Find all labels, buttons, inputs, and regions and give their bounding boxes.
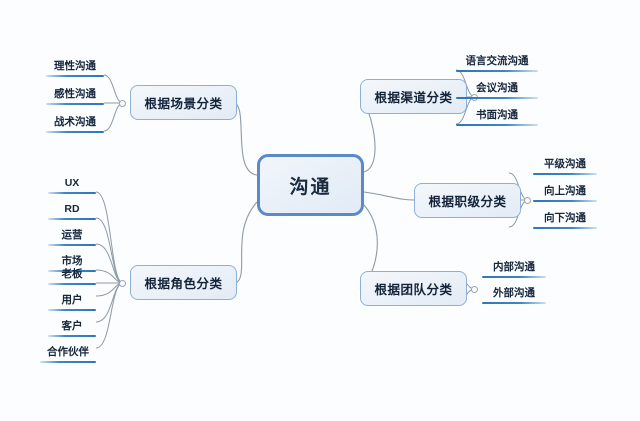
leaf-scene-1[interactable]: 感性沟通 [46,87,104,109]
leaf-role-0-label: UX [48,176,96,190]
leaf-team-1-label: 外部沟通 [482,286,546,300]
connector-dot-role [119,280,126,287]
branch-node-team[interactable]: 根据团队分类 [360,271,467,306]
leaf-role-3-label: 市场 [48,254,96,268]
leaf-channel-1-label: 会议沟通 [456,81,538,95]
connector-dot-scene [119,100,126,107]
branch-node-team-label: 根据团队分类 [374,279,452,298]
leaf-scene-2[interactable]: 战术沟通 [46,115,104,137]
leaf-underline [456,70,538,72]
branch-node-channel[interactable]: 根据渠道分类 [360,79,467,114]
leaf-underline [48,192,96,194]
leaf-role-1[interactable]: RD [48,202,96,224]
connector-dot-team [471,286,478,293]
leaf-underline [456,97,538,99]
leaf-role-7-label: 合作伙伴 [40,345,96,359]
leaf-underline [46,75,104,77]
leaf-scene-0-label: 理性沟通 [46,59,104,73]
leaf-channel-2[interactable]: 书面沟通 [456,108,538,130]
leaf-role-4-label: 老板 [48,267,96,281]
leaf-role-2[interactable]: 运营 [48,228,96,250]
leaf-rank-0[interactable]: 平级沟通 [533,157,597,179]
leaf-underline [533,173,597,175]
link-root-rank [364,192,414,200]
link-root-role [236,202,257,283]
leaf-underline [46,131,104,133]
link-scene-leaf-2 [104,103,123,131]
leaf-role-4[interactable]: 老板 [48,267,96,289]
branch-node-rank-label: 根据职级分类 [428,191,506,210]
leaf-channel-1[interactable]: 会议沟通 [456,81,538,103]
leaf-underline [48,283,96,285]
leaf-underline [482,276,546,278]
leaf-scene-2-label: 战术沟通 [46,115,104,129]
leaf-role-2-label: 运营 [48,228,96,242]
leaf-team-0-label: 内部沟通 [482,260,546,274]
leaf-role-7[interactable]: 合作伙伴 [40,345,96,367]
link-role-leaf-1 [96,218,123,283]
leaf-underline [482,302,546,304]
leaf-scene-1-label: 感性沟通 [46,87,104,101]
link-role-leaf-6 [96,283,123,322]
branch-node-channel-label: 根据渠道分类 [374,87,452,106]
leaf-underline [48,309,96,311]
leaf-rank-2[interactable]: 向下沟通 [533,211,597,233]
leaf-team-1[interactable]: 外部沟通 [482,286,546,308]
leaf-role-6[interactable]: 客户 [48,319,96,341]
link-role-leaf-2 [96,244,123,283]
branch-node-rank[interactable]: 根据职级分类 [414,183,521,218]
leaf-scene-0[interactable]: 理性沟通 [46,59,104,81]
leaf-channel-2-label: 书面沟通 [456,108,538,122]
link-role-leaf-7 [96,283,123,348]
leaf-role-5[interactable]: 用户 [48,293,96,315]
connector-dot-rank [524,197,531,204]
leaf-role-1-label: RD [48,202,96,216]
leaf-role-6-label: 客户 [48,319,96,333]
link-role-leaf-0 [96,192,123,283]
leaf-role-0[interactable]: UX [48,176,96,198]
branch-node-scene[interactable]: 根据场景分类 [130,85,237,120]
leaf-underline [48,335,96,337]
leaf-channel-0[interactable]: 语言交流沟通 [456,54,538,76]
leaf-underline [40,361,96,363]
leaf-channel-0-label: 语言交流沟通 [456,54,538,68]
leaf-underline [533,227,597,229]
mindmap-canvas: 沟通 根据场景分类 根据角色分类 根据渠道分类 根据职级分类 根据团队分类 理性… [0,0,640,421]
branch-node-role-label: 根据角色分类 [144,273,222,292]
leaf-rank-2-label: 向下沟通 [533,211,597,225]
root-node-label: 沟通 [289,172,331,199]
leaf-role-5-label: 用户 [48,293,96,307]
branch-node-role[interactable]: 根据角色分类 [130,265,237,300]
leaf-rank-1[interactable]: 向上沟通 [533,184,597,206]
leaf-team-0[interactable]: 内部沟通 [482,260,546,282]
leaf-rank-1-label: 向上沟通 [533,184,597,198]
link-root-scene [235,103,257,175]
leaf-underline [46,103,104,105]
root-node[interactable]: 沟通 [257,154,364,216]
leaf-underline [456,124,538,126]
leaf-underline [48,218,96,220]
leaf-underline [48,244,96,246]
leaf-rank-0-label: 平级沟通 [533,157,597,171]
link-scene-leaf-0 [104,75,123,103]
leaf-underline [533,200,597,202]
branch-node-scene-label: 根据场景分类 [144,93,222,112]
